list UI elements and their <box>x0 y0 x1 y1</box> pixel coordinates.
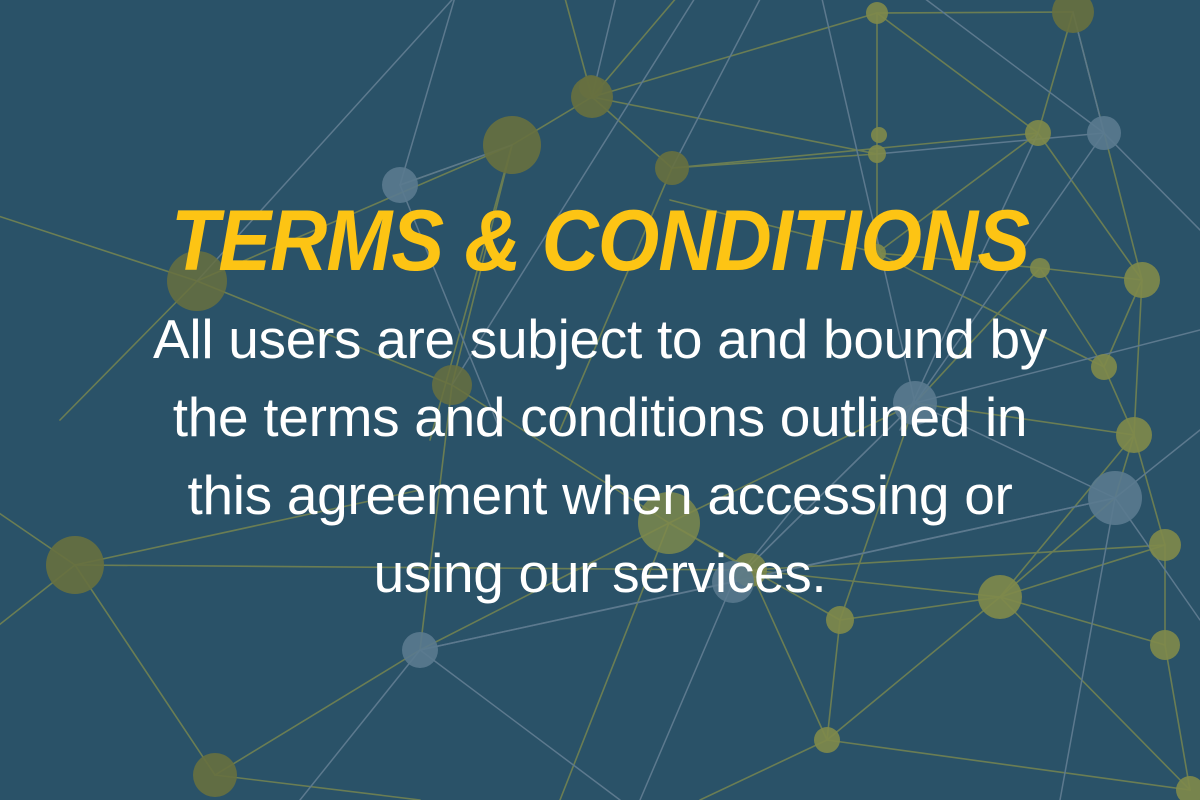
body-line: using our services. <box>0 534 1200 612</box>
terms-body-text: All users are subject to and bound by th… <box>0 300 1200 612</box>
body-line: All users are subject to and bound by <box>0 300 1200 378</box>
banner-content: TERMS & CONDITIONS All users are subject… <box>0 0 1200 800</box>
terms-and-conditions-banner: TERMS & CONDITIONS All users are subject… <box>0 0 1200 800</box>
body-line: the terms and conditions outlined in <box>0 378 1200 456</box>
page-title: TERMS & CONDITIONS <box>48 196 1152 286</box>
body-line: this agreement when accessing or <box>0 456 1200 534</box>
